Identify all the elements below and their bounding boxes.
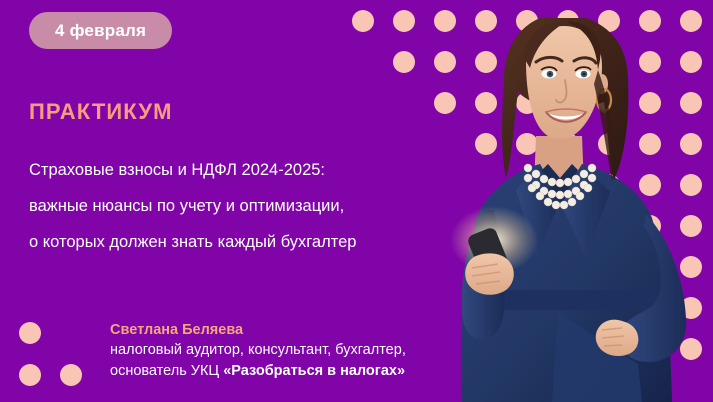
date-badge: 4 февраля <box>29 12 172 49</box>
headline: Страховые взносы и НДФЛ 2024-2025: важны… <box>29 152 469 260</box>
speaker-name: Светлана Беляева <box>110 320 530 340</box>
speaker-role-prefix: основатель УКЦ <box>110 363 223 379</box>
speaker-block: Светлана Беляева налоговый аудитор, конс… <box>110 320 530 382</box>
headline-line-3: о которых должен знать каждый бухгалтер <box>29 224 469 260</box>
headline-line-2: важные нюансы по учету и оптимизации, <box>29 188 469 224</box>
speaker-role-line-2: основатель УКЦ «Разобраться в налогах» <box>110 361 530 382</box>
poster-content: 4 февраля ПРАКТИКУМ Страховые взносы и Н… <box>0 0 713 402</box>
promo-poster: 4 февраля ПРАКТИКУМ Страховые взносы и Н… <box>0 0 713 402</box>
speaker-role-line-1: налоговый аудитор, консультант, бухгалте… <box>110 340 530 361</box>
speaker-company-name: «Разобраться в налогах» <box>223 363 405 379</box>
event-type-kicker: ПРАКТИКУМ <box>29 99 173 125</box>
headline-line-1: Страховые взносы и НДФЛ 2024-2025: <box>29 152 469 188</box>
